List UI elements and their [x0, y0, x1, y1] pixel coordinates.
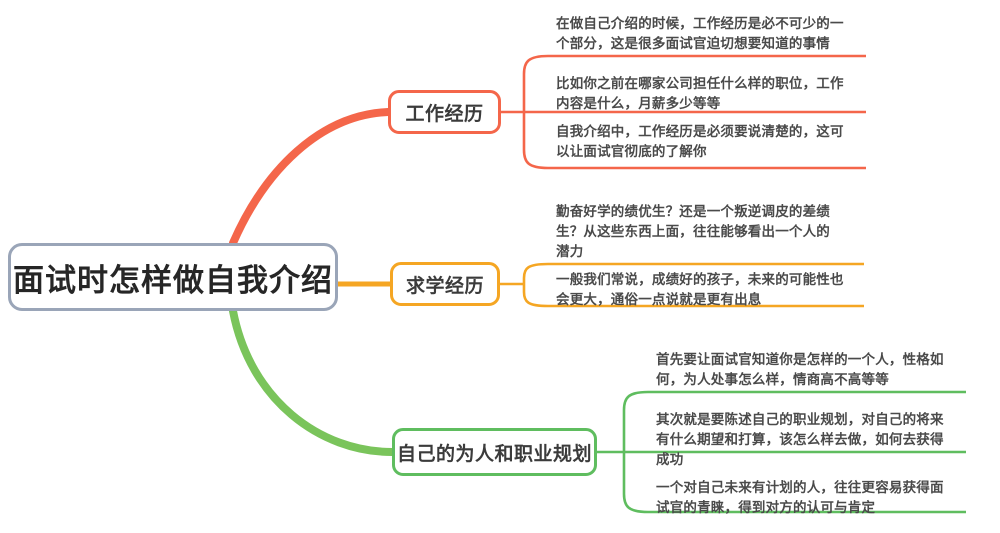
leaf-node[interactable]: 首先要让面试官知道你是怎样的一个人，性格如 何，为人处事怎么样，情商高不高等等	[648, 350, 968, 393]
topic-node-education-experience[interactable]: 求学经历	[390, 262, 500, 306]
connector-root-to-topic-1	[233, 112, 388, 243]
leaf-line: 试官的青睐，得到对方的认可与肯定	[656, 498, 968, 518]
leaf-node[interactable]: 自我介绍中，工作经历是必须要说清楚的，这可 以让面试官彻底的了解你	[548, 122, 868, 165]
leaf-node[interactable]: 在做自己介绍的时候，工作经历是必不可少的一 个部分，这是很多面试官迫切想要知道的…	[548, 14, 868, 57]
leaf-line: 一般我们常说，成绩好的孩子，未来的可能性也	[556, 270, 866, 290]
leaf-line: 会更大，通俗一点说就是更有出息	[556, 290, 866, 310]
root-node-label: 面试时怎样做自我介绍	[13, 255, 333, 300]
topic-node-character-and-career-plan[interactable]: 自己的为人和职业规划	[392, 428, 597, 476]
bracket-topic-1-spine	[524, 56, 548, 168]
leaf-line: 首先要让面试官知道你是怎样的一个人，性格如	[656, 350, 968, 370]
leaf-line: 生？从这些东西上面，往往能够看出一个人的	[556, 222, 866, 242]
leaf-node[interactable]: 勤奋好学的绩优生？还是一个叛逆调皮的差绩 生？从这些东西上面，往往能够看出一个人…	[548, 202, 866, 265]
leaf-line: 勤奋好学的绩优生？还是一个叛逆调皮的差绩	[556, 202, 866, 222]
leaf-line: 个部分，这是很多面试官迫切想要知道的事情	[556, 34, 868, 54]
leaf-node[interactable]: 其次就是要陈述自己的职业规划，对自己的将来 有什么期望和打算，该怎么样去做，如何…	[648, 410, 968, 473]
topic-node-label: 工作经历	[405, 99, 483, 126]
leaf-line: 自我介绍中，工作经历是必须要说清楚的，这可	[556, 122, 868, 142]
leaf-node[interactable]: 一般我们常说，成绩好的孩子，未来的可能性也 会更大，通俗一点说就是更有出息	[548, 270, 866, 313]
leaf-line: 在做自己介绍的时候，工作经历是必不可少的一	[556, 14, 868, 34]
bracket-topic-3-spine	[624, 392, 648, 512]
mindmap-canvas: 面试时怎样做自我介绍 工作经历 求学经历 自己的为人和职业规划 在做自己介绍的时…	[0, 0, 1000, 533]
root-node[interactable]: 面试时怎样做自我介绍	[8, 243, 338, 311]
leaf-line: 何，为人处事怎么样，情商高不高等等	[656, 370, 968, 390]
leaf-line: 有什么期望和打算，该怎么样去做，如何去获得	[656, 430, 968, 450]
leaf-line: 内容是什么，月薪多少等等	[556, 94, 868, 114]
leaf-line: 潜力	[556, 242, 866, 262]
leaf-node[interactable]: 一个对自己未来有计划的人，往往更容易获得面 试官的青睐，得到对方的认可与肯定	[648, 478, 968, 521]
topic-node-work-experience[interactable]: 工作经历	[388, 90, 501, 134]
leaf-line: 一个对自己未来有计划的人，往往更容易获得面	[656, 478, 968, 498]
leaf-line: 以让面试官彻底的了解你	[556, 142, 868, 162]
leaf-line: 成功	[656, 450, 968, 470]
leaf-line: 其次就是要陈述自己的职业规划，对自己的将来	[656, 410, 968, 430]
topic-node-label: 求学经历	[406, 271, 484, 298]
leaf-node[interactable]: 比如你之前在哪家公司担任什么样的职位，工作 内容是什么，月薪多少等等	[548, 74, 868, 117]
leaf-line: 比如你之前在哪家公司担任什么样的职位，工作	[556, 74, 868, 94]
connector-root-to-topic-3	[233, 311, 392, 452]
topic-node-label: 自己的为人和职业规划	[397, 439, 592, 466]
bracket-topic-2-spine	[524, 264, 548, 306]
